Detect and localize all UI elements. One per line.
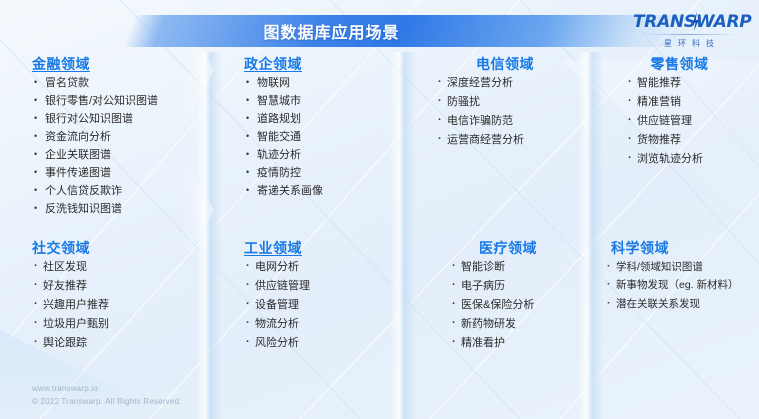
- list-item: 好友推荐: [32, 281, 109, 292]
- domain-heading-social: 社交领域: [32, 240, 109, 257]
- list-item: 舆论跟踪: [32, 338, 109, 349]
- domain-heading-finance: 金融领域: [32, 56, 158, 73]
- list-item: 电网分析: [244, 262, 310, 273]
- list-item: 运营商经营分析: [436, 135, 580, 146]
- list-item: 设备管理: [244, 300, 310, 311]
- list-item: 智能推荐: [626, 78, 747, 89]
- list-item: 道路规划: [244, 114, 323, 125]
- list-item: 学科/领域知识图谱: [605, 262, 755, 273]
- transwarp-logo: TRANSWARP 星环科技: [633, 14, 745, 49]
- domain-list-finance: 冒名贷款 银行零售/对公知识图谱 银行对公知识图谱 资金流向分析 企业关联图谱 …: [32, 78, 158, 215]
- list-item: 供应链管理: [626, 116, 747, 127]
- list-item: 风险分析: [244, 338, 310, 349]
- list-item: 寄递关系画像: [244, 186, 323, 197]
- domain-list-retail: 智能推荐 精准营销 供应链管理 货物推荐 浏览轨迹分析: [612, 78, 747, 165]
- domain-list-medical: 智能诊断 电子病历 医保&保险分析 新药物研发 精准看护: [438, 262, 578, 349]
- domain-heading-medical: 医疗领域: [438, 240, 578, 257]
- list-item: 垃圾用户甄别: [32, 319, 109, 330]
- list-item: 兴趣用户推荐: [32, 300, 109, 311]
- list-item: 电子病历: [450, 281, 578, 292]
- list-item: 浏览轨迹分析: [626, 154, 747, 165]
- list-item: 医保&保险分析: [450, 300, 578, 311]
- list-item: 防骚扰: [436, 97, 580, 108]
- footer-copyright: © 2022 Transwarp. All Rights Reserved.: [32, 395, 182, 409]
- footer-website[interactable]: www.transwarp.io: [32, 382, 182, 396]
- domain-heading-telecom: 电信领域: [430, 56, 580, 73]
- domain-heading-retail: 零售领域: [612, 56, 747, 73]
- logo-wordmark: TRANSWARP: [633, 14, 751, 31]
- list-item: 深度经营分析: [436, 78, 580, 89]
- list-item: 反洗钱知识图谱: [32, 204, 158, 215]
- domain-block-industry: 工业领域 电网分析 供应链管理 设备管理 物流分析 风险分析: [244, 240, 310, 357]
- slide-root: 图数据库应用场景 TRANSWARP 星环科技 金融领域 冒名贷款 银行零售/对…: [0, 0, 759, 419]
- logo-chinese-name: 星环科技: [633, 38, 745, 49]
- list-item: 社区发现: [32, 262, 109, 273]
- domain-block-science: 科学领域 学科/领域知识图谱 新事物发现（eg. 新材料） 潜在关联关系发现: [605, 240, 755, 317]
- list-item: 货物推荐: [626, 135, 747, 146]
- domain-block-finance: 金融领域 冒名贷款 银行零售/对公知识图谱 银行对公知识图谱 资金流向分析 企业…: [32, 56, 158, 222]
- list-item: 智能诊断: [450, 262, 578, 273]
- list-item: 冒名贷款: [32, 78, 158, 89]
- list-item: 轨迹分析: [244, 150, 323, 161]
- list-item: 新事物发现（eg. 新材料）: [605, 280, 755, 291]
- list-item: 疫情防控: [244, 168, 323, 179]
- list-item: 物联网: [244, 78, 323, 89]
- domain-block-retail: 零售领域 智能推荐 精准营销 供应链管理 货物推荐 浏览轨迹分析: [612, 56, 747, 173]
- domain-list-government: 物联网 智慧城市 道路规划 智能交通 轨迹分析 疫情防控 寄递关系画像: [244, 78, 323, 197]
- list-item: 资金流向分析: [32, 132, 158, 143]
- list-item: 银行对公知识图谱: [32, 114, 158, 125]
- domain-list-social: 社区发现 好友推荐 兴趣用户推荐 垃圾用户甄别 舆论跟踪: [32, 262, 109, 349]
- domain-list-telecom: 深度经营分析 防骚扰 电信诈骗防范 运营商经营分析: [430, 78, 580, 146]
- domain-block-social: 社交领域 社区发现 好友推荐 兴趣用户推荐 垃圾用户甄别 舆论跟踪: [32, 240, 109, 357]
- domain-block-medical: 医疗领域 智能诊断 电子病历 医保&保险分析 新药物研发 精准看护: [438, 240, 578, 357]
- list-item: 精准看护: [450, 338, 578, 349]
- list-item: 电信诈骗防范: [436, 116, 580, 127]
- list-item: 企业关联图谱: [32, 150, 158, 161]
- list-item: 新药物研发: [450, 319, 578, 330]
- list-item: 智慧城市: [244, 96, 323, 107]
- list-item: 精准营销: [626, 97, 747, 108]
- domain-block-telecom: 电信领域 深度经营分析 防骚扰 电信诈骗防范 运营商经营分析: [430, 56, 580, 154]
- list-item: 个人信贷反欺诈: [32, 186, 158, 197]
- domain-list-industry: 电网分析 供应链管理 设备管理 物流分析 风险分析: [244, 262, 310, 349]
- domain-heading-science: 科学领域: [605, 240, 755, 257]
- logo-rule: [641, 34, 737, 35]
- domain-heading-government: 政企领域: [244, 56, 323, 73]
- domain-grid: 金融领域 冒名贷款 银行零售/对公知识图谱 银行对公知识图谱 资金流向分析 企业…: [0, 52, 759, 382]
- list-item: 潜在关联关系发现: [605, 299, 755, 310]
- list-item: 供应链管理: [244, 281, 310, 292]
- list-item: 智能交通: [244, 132, 323, 143]
- domain-list-science: 学科/领域知识图谱 新事物发现（eg. 新材料） 潜在关联关系发现: [605, 262, 755, 310]
- domain-heading-industry: 工业领域: [244, 240, 310, 257]
- list-item: 事件传递图谱: [32, 168, 158, 179]
- page-title: 图数据库应用场景: [263, 19, 399, 43]
- domain-block-government: 政企领域 物联网 智慧城市 道路规划 智能交通 轨迹分析 疫情防控 寄递关系画像: [244, 56, 323, 204]
- footer: www.transwarp.io © 2022 Transwarp. All R…: [32, 382, 182, 409]
- list-item: 银行零售/对公知识图谱: [32, 96, 158, 107]
- list-item: 物流分析: [244, 319, 310, 330]
